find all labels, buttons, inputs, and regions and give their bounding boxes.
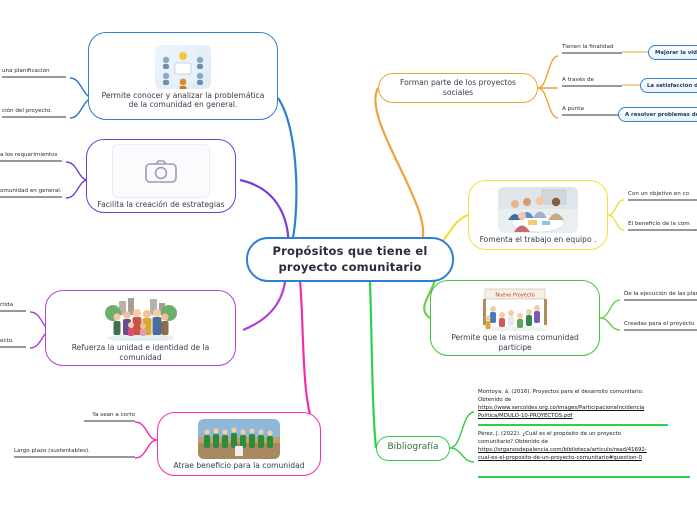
leaf-participacion-1[interactable]: De la ejecución de las plan <box>624 291 697 301</box>
topic-node-participacion[interactable]: Nuevo Proyecto Permite que la misma comu… <box>430 280 600 356</box>
leaf-identidad-1[interactable]: rtida <box>0 302 26 312</box>
leaf-proyectos-2[interactable]: A través de <box>562 77 622 87</box>
chip-mejorar-vida[interactable]: Mejorar la vid <box>648 45 697 60</box>
mindmap-canvas: Propósitos que tiene el proyecto comunit… <box>0 0 697 520</box>
leaf-identidad-2[interactable]: ecto. <box>0 338 26 348</box>
topic-label-estrategias: Facilita la creación de estrategias <box>89 198 232 212</box>
leaf-proyectos-3[interactable]: A punta <box>562 106 622 116</box>
topic-label-bibliografia: Bibliografía <box>379 440 446 456</box>
leaf-proyectos-1[interactable]: Tienen la finalidad <box>562 44 622 54</box>
leaf-trabajo-2[interactable]: El beneficio de la com <box>628 221 697 231</box>
leaf-estrategias-1[interactable]: a los requerimientos <box>0 152 62 162</box>
bib-1-citation: Montoya, á. (2016). Proyectos para el de… <box>478 389 644 403</box>
leaf-beneficio-2[interactable]: Largo plazo (sustentables). <box>14 448 135 458</box>
central-topic-node[interactable]: Propósitos que tiene el proyecto comunit… <box>246 237 454 282</box>
topic-label-proyectos-sociales: Forman parte de los proyectos sociales <box>379 76 537 100</box>
bib-1-url-line-2[interactable]: Politica/MDULO-10-PROYECTOS.pdf <box>478 412 654 420</box>
bib-1-url-line-1[interactable]: https://www.sercoldes.org.co/images/Part… <box>478 404 654 412</box>
bibliography-divider-1 <box>478 424 668 426</box>
topic-node-planificacion[interactable]: Permite conocer y analizar la problemáti… <box>88 32 278 120</box>
bib-2-url-line-1[interactable]: https://organosdepalencia.com/biblioteca… <box>478 446 654 454</box>
topic-label-trabajo-equipo: Fomenta el trabajo en equipo . <box>472 233 605 247</box>
bibliography-divider-2 <box>478 476 690 478</box>
topic-label-participacion: Permite que la misma comunidad participe <box>431 331 599 355</box>
leaf-planificacion-2[interactable]: ción del proyecto. <box>2 108 66 118</box>
bibliography-reference-1: Montoya, á. (2016). Proyectos para el de… <box>478 388 654 420</box>
topic-node-estrategias[interactable]: Facilita la creación de estrategias <box>86 139 236 213</box>
topic-node-trabajo-equipo[interactable]: Fomenta el trabajo en equipo . <box>468 180 608 250</box>
topic-label-identidad: Refuerza la unidad e identidad de la com… <box>46 341 235 365</box>
central-topic-label: Propósitos que tiene el proyecto comunit… <box>248 244 452 275</box>
bib-2-citation: Pérez, J. (2022). ¿Cuál es el propósito … <box>478 431 621 445</box>
topic-node-beneficio[interactable]: Atrae beneficio para la comunidad <box>157 412 321 476</box>
leaf-beneficio-1[interactable]: Ya sean a corto <box>84 412 135 422</box>
teamwork-idea-lightbulb-graphic <box>155 45 211 89</box>
leaf-participacion-2[interactable]: Creadas para el proyecto <box>624 321 697 331</box>
community-event-banner-illustration: Nuevo Proyecto <box>471 285 559 331</box>
topic-label-beneficio: Atrae beneficio para la comunidad <box>165 459 312 473</box>
chip-satisfaccion[interactable]: La satisfacción de su <box>640 78 697 93</box>
team-meeting-table-photo <box>498 187 578 233</box>
leaf-trabajo-1[interactable]: Con un objetivo en co <box>628 191 697 201</box>
topic-node-proyectos-sociales[interactable]: Forman parte de los proyectos sociales <box>378 73 538 103</box>
leaf-estrategias-2[interactable]: omunidad en general. <box>0 188 62 198</box>
leaf-planificacion-1[interactable]: una planificación <box>2 68 66 78</box>
volunteers-green-shirts-photo <box>198 419 280 459</box>
topic-label-planificacion: Permite conocer y analizar la problemáti… <box>89 89 277 113</box>
camera-placeholder-icon <box>112 144 210 198</box>
chip-resolver-problemas[interactable]: A resolver problemas de <box>618 107 697 122</box>
topic-node-identidad[interactable]: Refuerza la unidad e identidad de la com… <box>45 290 236 366</box>
bib-2-url-line-2[interactable]: cual-es-el-proposito-de-un-proyecto-comu… <box>478 454 654 462</box>
community-people-group-illustration <box>95 295 187 341</box>
svg-text:Nuevo Proyecto: Nuevo Proyecto <box>495 293 534 299</box>
bibliography-reference-2: Pérez, J. (2022). ¿Cuál es el propósito … <box>478 430 654 462</box>
topic-node-bibliografia[interactable]: Bibliografía <box>376 436 450 461</box>
